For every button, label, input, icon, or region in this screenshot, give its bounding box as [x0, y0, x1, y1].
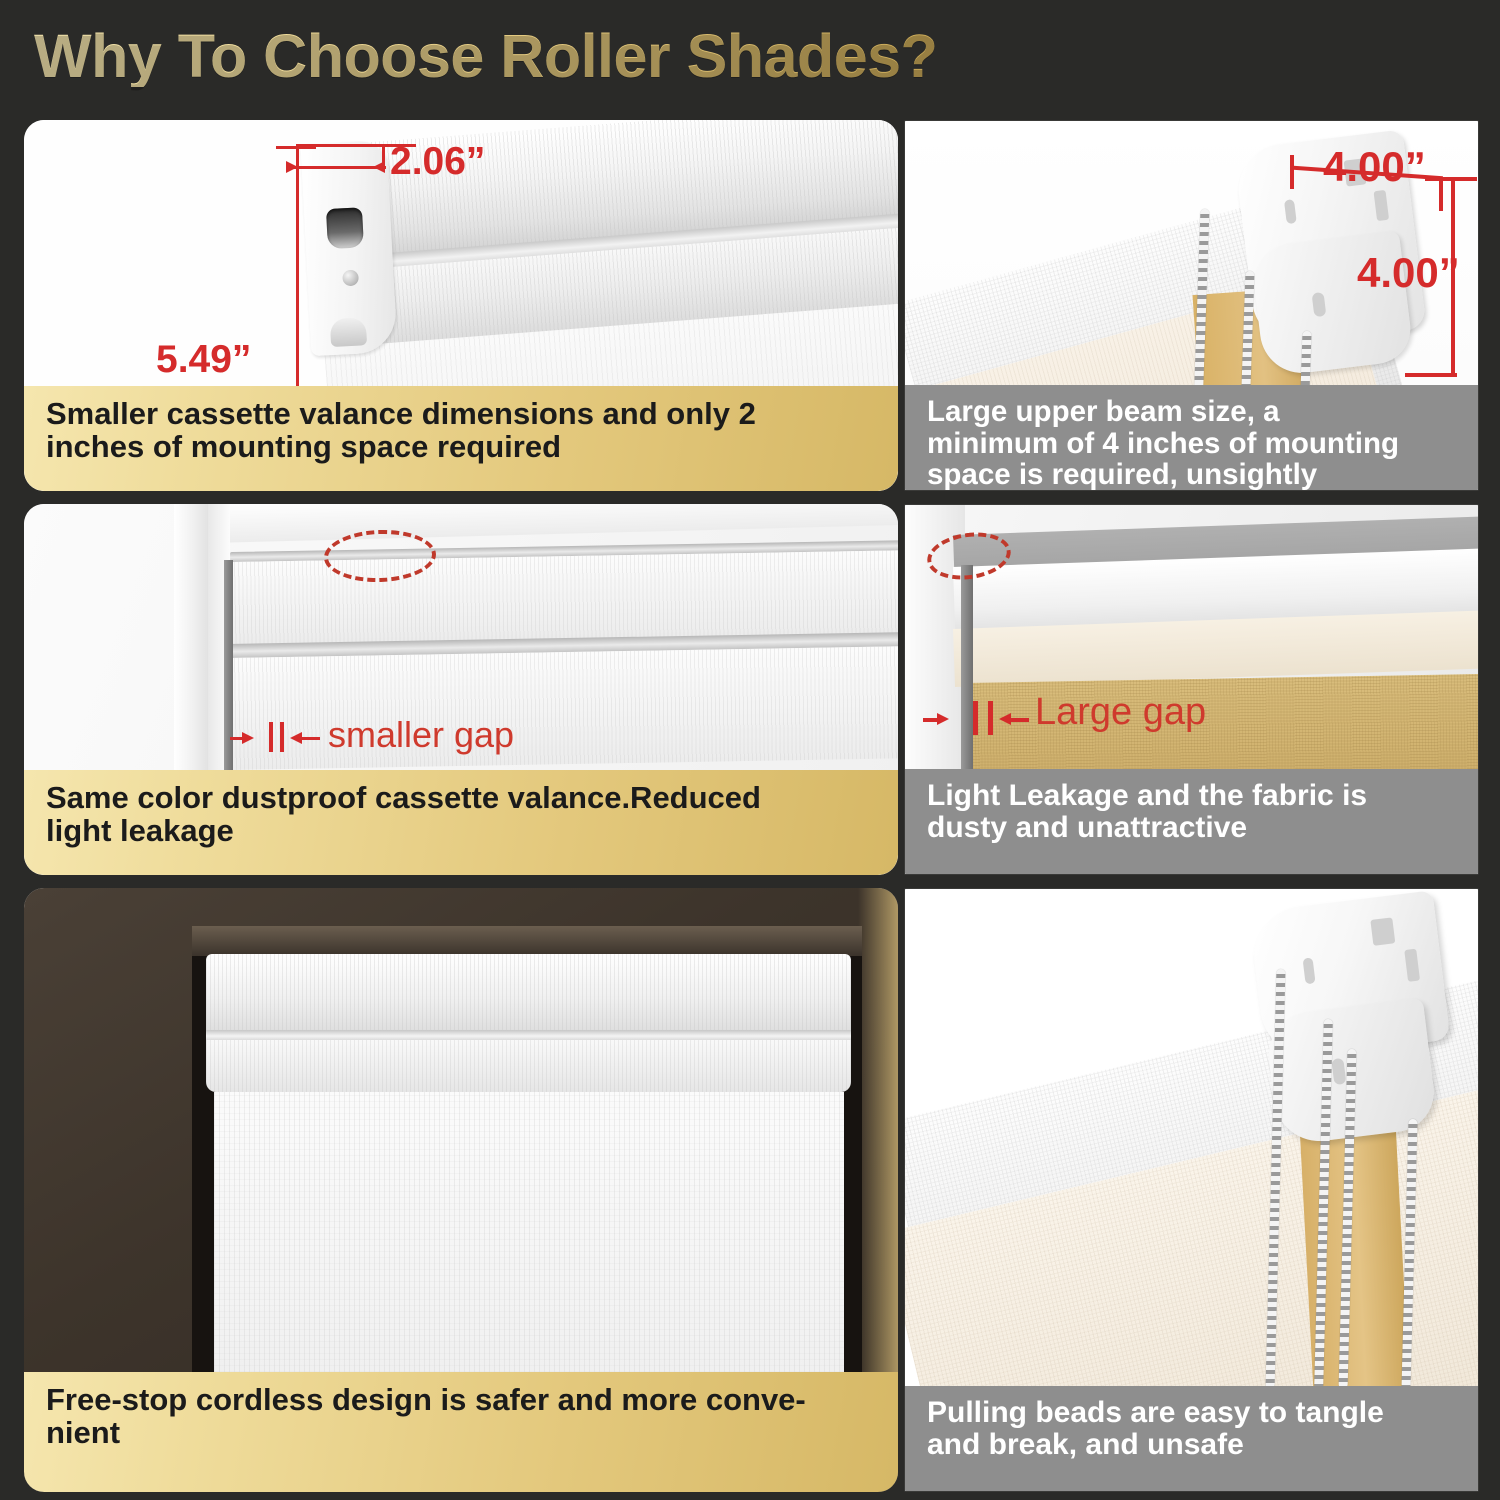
height-dimension-tick-top	[276, 146, 316, 149]
gap-label: Large gap	[1035, 691, 1206, 734]
panel-pro-dustproof-valance[interactable]: smaller gap Same color dustproof cassett…	[24, 504, 898, 875]
height-dimension-tick-bottom	[1405, 373, 1457, 377]
gap-tick-right	[280, 722, 284, 752]
window-header-trim	[192, 926, 862, 956]
caption-con-pulling-beads: Pulling beads are easy to tangle and bre…	[905, 1386, 1478, 1491]
caption-line-2: nient	[46, 1416, 878, 1449]
panel-con-light-leakage[interactable]: Large gap Light Leakage and the fabric i…	[904, 504, 1479, 875]
gap-label: smaller gap	[328, 714, 514, 756]
caption-line-2: and break, and unsafe	[927, 1429, 1458, 1461]
gap-tick-right	[988, 701, 993, 735]
panel-pro-cassette-size[interactable]: 2.06” 5.49” Smaller cassette valance dim…	[24, 120, 898, 491]
gap-arrow-left-stem	[923, 718, 939, 722]
caption-line-3: space is required, unsightly	[927, 459, 1458, 491]
gap-shadow-strip	[224, 560, 233, 774]
caption-pro-dustproof-valance: Same color dustproof cassette valance.Re…	[24, 770, 898, 875]
width-dimension-label: 4.00”	[1323, 143, 1426, 191]
caption-line-2: light leakage	[46, 814, 878, 847]
width-dimension-span	[290, 166, 386, 169]
gap-arrow-right-stem	[300, 737, 320, 740]
gap-arrow-right-stem	[1009, 718, 1029, 722]
caption-line-1: Smaller cassette valance dimensions and …	[46, 397, 878, 430]
width-dimension-tick-left	[1290, 155, 1294, 189]
caption-con-beam-size: Large upper beam size, a minimum of 4 in…	[905, 385, 1478, 490]
page-title: Why To Choose Roller Shades?	[34, 26, 937, 87]
gap-tick-left	[973, 701, 978, 735]
gap-arrow-left-stem	[230, 737, 246, 740]
caption-line-2: dusty and unattractive	[927, 812, 1458, 844]
caption-line-1: Same color dustproof cassette valance.Re…	[46, 781, 878, 814]
caption-line-2: minimum of 4 inches of mounting	[927, 428, 1458, 460]
caption-line-1: Light Leakage and the fabric is	[927, 780, 1458, 812]
panel-con-pulling-beads[interactable]: Pulling beads are easy to tangle and bre…	[904, 888, 1479, 1492]
caption-line-1: Free-stop cordless design is safer and m…	[46, 1383, 878, 1416]
valance-band-upper	[230, 550, 898, 644]
gap-shadow-strip	[961, 565, 973, 795]
height-dimension-tick-top	[1425, 177, 1477, 181]
caption-pro-cordless-design: Free-stop cordless design is safer and m…	[24, 1372, 898, 1492]
width-dimension-tick-right	[1439, 177, 1443, 211]
panel-pro-cordless-design[interactable]: Free-stop cordless design is safer and m…	[24, 888, 898, 1492]
caption-line-1: Pulling beads are easy to tangle	[927, 1397, 1458, 1429]
height-dimension-label: 5.49”	[156, 338, 251, 382]
caption-line-2: inches of mounting space required	[46, 430, 878, 463]
height-dimension-label: 4.00”	[1357, 249, 1460, 297]
comparison-grid: 2.06” 5.49” Smaller cassette valance dim…	[0, 112, 1500, 1500]
caption-pro-cassette-size: Smaller cassette valance dimensions and …	[24, 386, 898, 491]
cassette-valance-upper	[206, 954, 851, 1034]
roller-shade-fabric	[214, 1092, 844, 1402]
caption-line-1: Large upper beam size, a	[927, 396, 1458, 428]
window-frame-outer	[174, 504, 208, 804]
gap-tick-left	[269, 722, 273, 752]
width-dimension-label: 2.06”	[390, 140, 485, 184]
cassette-valance-lower	[206, 1040, 851, 1092]
caption-con-light-leakage: Light Leakage and the fabric is dusty an…	[905, 769, 1478, 874]
page-header: Why To Choose Roller Shades?	[0, 0, 1500, 112]
panel-con-beam-size[interactable]: 4.00” 4.00” Large upper beam size, a min…	[904, 120, 1479, 491]
